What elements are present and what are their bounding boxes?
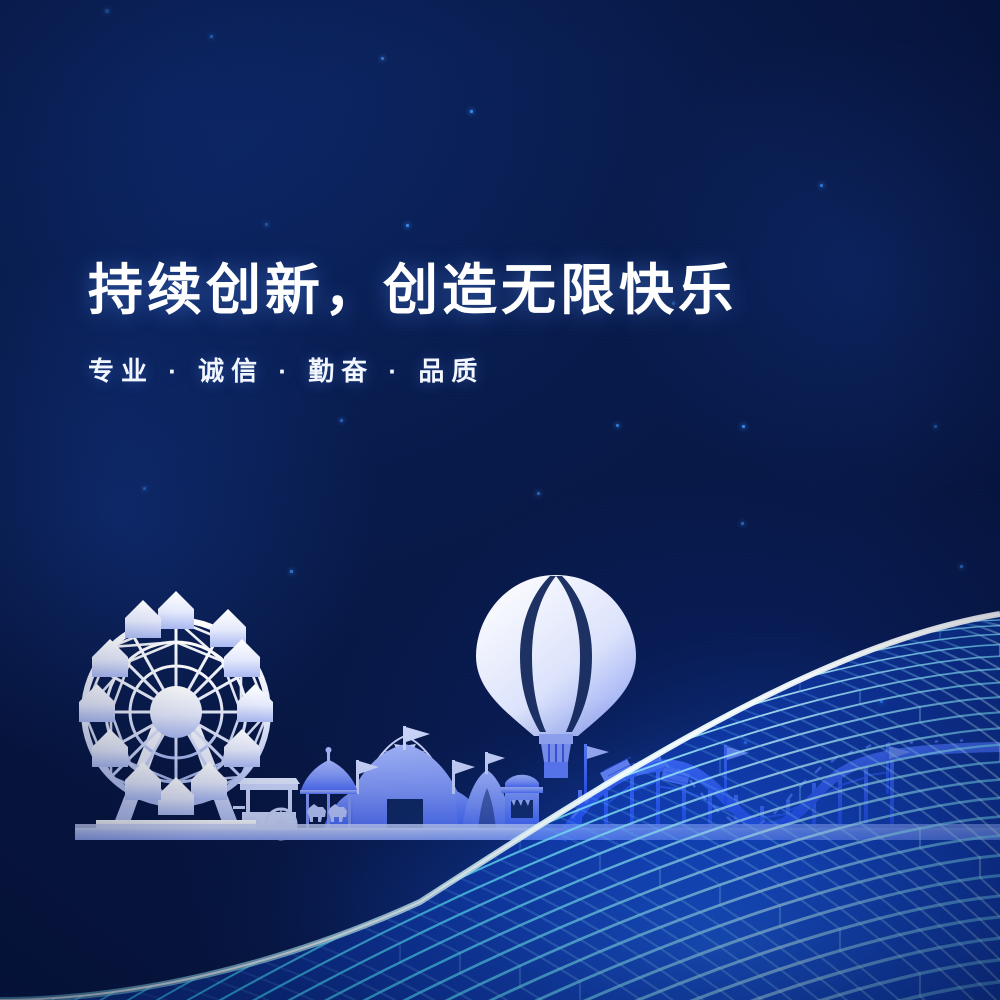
hero-copy: 持续创新，创造无限快乐 专业 · 诚信 · 勤奋 · 品质 <box>88 258 737 388</box>
page-subtitle: 专业 · 诚信 · 勤奋 · 品质 <box>88 351 737 388</box>
vignette-overlay <box>0 0 1000 1000</box>
page-title: 持续创新，创造无限快乐 <box>88 258 737 323</box>
poster-root: 持续创新，创造无限快乐 专业 · 诚信 · 勤奋 · 品质 <box>0 0 1000 1000</box>
